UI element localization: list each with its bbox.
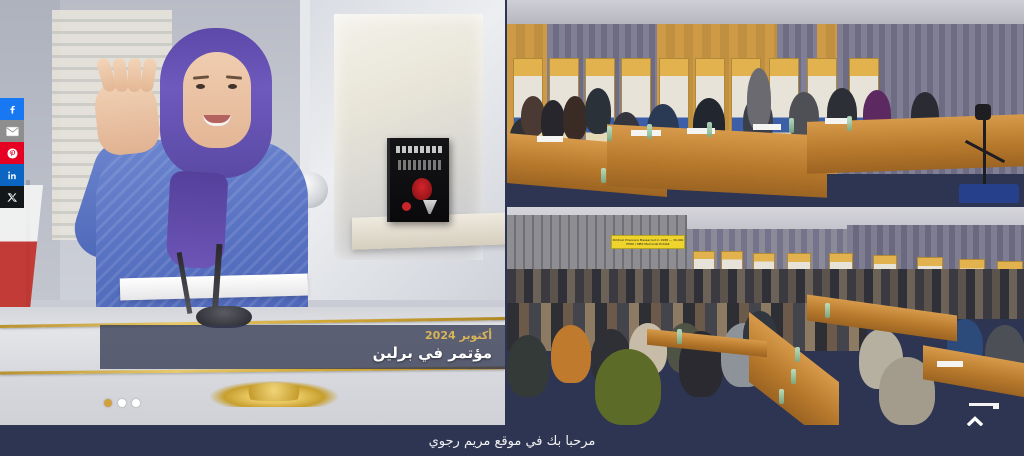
- speaker-eye-left: [196, 84, 205, 89]
- speaker-face: [183, 52, 251, 148]
- carousel-dot-1[interactable]: [132, 399, 140, 407]
- yellow-wall-banner-text: 30,000 Political Prisoners Massacred in …: [612, 236, 684, 246]
- water-bottle: [607, 126, 612, 141]
- papers: [631, 130, 661, 136]
- water-bottle: [789, 118, 794, 133]
- share-pinterest-button[interactable]: [0, 142, 24, 164]
- attendee: [563, 96, 587, 140]
- share-email-button[interactable]: [0, 120, 24, 142]
- carousel-dot-2[interactable]: [118, 399, 126, 407]
- speaker-eye-right: [228, 84, 237, 89]
- water-bottle: [795, 347, 800, 362]
- share-linkedin-button[interactable]: [0, 164, 24, 186]
- papers: [753, 124, 781, 130]
- yellow-wall-banner: 30,000 Political Prisoners Massacred in …: [611, 235, 685, 249]
- tulip-graphic: [412, 178, 432, 200]
- water-bottle: [707, 122, 712, 137]
- carousel-dot-3-active[interactable]: [104, 399, 112, 407]
- papers: [537, 136, 563, 142]
- slide-caption-title: مؤتمر في برلين: [373, 344, 492, 362]
- carousel-dots[interactable]: [104, 399, 140, 407]
- photo-audience[interactable]: 30,000 Political Prisoners Massacred in …: [507, 207, 1024, 425]
- pinterest-icon: [7, 148, 18, 159]
- papers: [937, 361, 963, 367]
- podium-gold-ornament: [210, 381, 338, 407]
- camera-head: [975, 104, 991, 120]
- speaker-finger: [128, 58, 142, 92]
- bottom-welcome-bar: مرحبا بك في موقع مريم رجوي: [0, 426, 1024, 456]
- page-root: أكتوبر 2024 مؤتمر في برلين: [0, 0, 1024, 456]
- audience-hall-scene: 30,000 Political Prisoners Massacred in …: [507, 207, 1024, 425]
- social-share-rail[interactable]: [0, 98, 24, 208]
- water-bottle: [825, 303, 830, 318]
- standing-attendee: [747, 68, 771, 130]
- stage-sign: [959, 184, 1019, 203]
- water-bottle: [601, 168, 606, 183]
- attendee-foreground: [595, 349, 661, 425]
- attendee: [551, 325, 591, 383]
- slide-caption[interactable]: أكتوبر 2024 مؤتمر في برلين: [100, 325, 505, 369]
- hero-slider[interactable]: أكتوبر 2024 مؤتمر في برلين: [0, 0, 505, 425]
- linkedin-icon: [7, 170, 18, 181]
- attendee: [507, 335, 549, 397]
- book-red-dot: [402, 202, 411, 211]
- water-bottle: [647, 124, 652, 139]
- share-facebook-button[interactable]: [0, 98, 24, 120]
- book-title-line-1: [396, 146, 443, 153]
- bottom-welcome-text: مرحبا بك في موقع مريم رجوي: [429, 434, 596, 449]
- right-photo-column: 30,000 Political Prisoners Massacred in …: [507, 0, 1024, 425]
- email-icon: [6, 126, 19, 137]
- photo-conference-panel[interactable]: [507, 0, 1024, 203]
- book-numeral-graphic: [423, 200, 437, 214]
- book-title-line-2: [398, 160, 441, 170]
- x-twitter-icon: [7, 192, 18, 203]
- share-x-button[interactable]: [0, 186, 24, 208]
- ceiling: [507, 0, 1024, 24]
- conference-room-scene: [507, 0, 1024, 203]
- book-cover: [387, 138, 449, 222]
- water-bottle: [791, 369, 796, 384]
- slide-caption-date: أكتوبر 2024: [425, 329, 492, 342]
- water-bottle: [677, 329, 682, 344]
- water-bottle: [779, 389, 784, 404]
- facebook-icon: [7, 104, 18, 115]
- water-bottle: [847, 116, 852, 131]
